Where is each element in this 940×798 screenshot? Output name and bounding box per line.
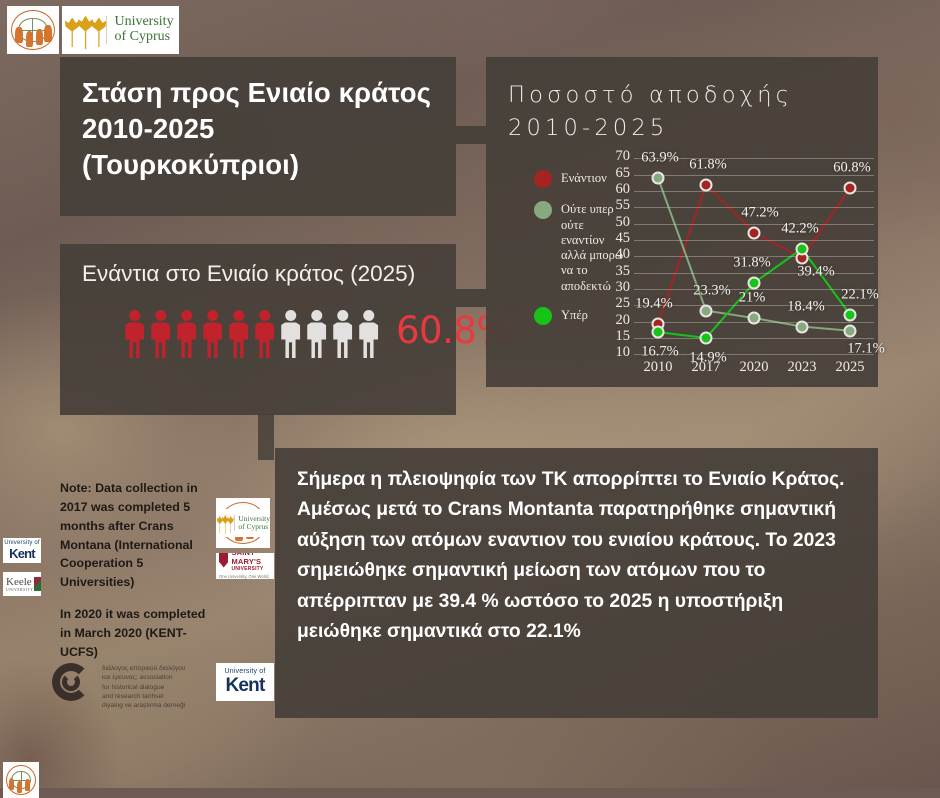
ahdr-figure xyxy=(25,779,30,791)
university-of-cyprus-logo-mid: University of Cyprus xyxy=(216,509,270,537)
y-axis-tick: 40 xyxy=(616,246,631,263)
page-title: Στάση προς Ενιαίο κράτος 2010-2025 (Τουρ… xyxy=(82,75,434,182)
note-line-1: Note: Data collection in 2017 was comple… xyxy=(60,479,212,592)
spiral-caption: διάλογος ιστορικού διαλόγουκαι έρευνας; … xyxy=(102,664,185,711)
gridline xyxy=(634,338,874,339)
ahdr-figure xyxy=(44,25,51,41)
ucy-wordmark: University of Cyprus xyxy=(107,15,179,45)
pictogram-person xyxy=(174,310,199,358)
data-label: 60.8% xyxy=(833,160,870,177)
person-body xyxy=(333,322,353,358)
person-head xyxy=(155,310,167,322)
chart-legend: ΕνάντιονΟύτε υπερ ούτε εναντίον αλλά μπο… xyxy=(534,170,628,338)
ucy-tree-mark xyxy=(62,6,106,54)
person-body xyxy=(203,322,223,358)
y-axis-tick: 50 xyxy=(616,214,631,231)
data-point[interactable] xyxy=(796,320,809,333)
data-label: 14.9% xyxy=(689,350,726,367)
spiral-caption-line: for historical dialogue xyxy=(102,683,185,692)
spiral-caption-line: diyalog ve araştırma derneği xyxy=(102,701,185,710)
data-point[interactable] xyxy=(844,182,857,195)
data-label: 16.7% xyxy=(641,344,678,361)
data-label: 22.1% xyxy=(841,286,878,303)
data-label: 21% xyxy=(739,290,766,307)
person-body xyxy=(307,322,327,358)
keele-crest-icon xyxy=(34,577,41,592)
legend-swatch-icon xyxy=(534,307,552,325)
person-head xyxy=(337,310,349,322)
legend-item-1[interactable]: Ούτε υπερ ούτε εναντίον αλλά μπορώ να το… xyxy=(534,201,628,294)
notes-block: Note: Data collection in 2017 was comple… xyxy=(60,479,212,662)
person-body xyxy=(125,322,145,358)
data-point[interactable] xyxy=(700,179,713,192)
y-axis-tick: 15 xyxy=(616,328,631,345)
data-point[interactable] xyxy=(844,308,857,321)
keele-university-logo: Keele UNIVERSITY xyxy=(3,572,41,596)
gridline xyxy=(634,191,874,192)
pictogram-person xyxy=(226,310,251,358)
ucy-line-1: University xyxy=(114,15,179,30)
spiral-caption-line: and research tarihsel xyxy=(102,692,185,701)
y-axis-tick: 45 xyxy=(616,230,631,247)
title-to-chart-connector xyxy=(456,126,486,144)
ahdr-figure xyxy=(15,27,22,43)
spiral-caption-line: και έρευνας; association xyxy=(102,673,185,682)
commentary-panel: Σήμερα η πλειοψηφία των ΤΚ απορρίπτει το… xyxy=(275,448,878,718)
person-head xyxy=(259,310,271,322)
person-body xyxy=(151,322,171,358)
data-point[interactable] xyxy=(844,325,857,338)
y-axis-tick: 70 xyxy=(616,148,631,165)
legend-item-0[interactable]: Ενάντιον xyxy=(534,170,628,188)
chart-area: ΕνάντιονΟύτε υπερ ούτε εναντίον αλλά μπο… xyxy=(510,152,880,374)
person-body xyxy=(255,322,275,358)
smu-row: SAINT MARY'S UNIVERSITY xyxy=(219,553,271,572)
y-axis-tick: 30 xyxy=(616,279,631,296)
pictogram-figures: 60.8% xyxy=(82,310,434,358)
person-head xyxy=(233,310,245,322)
pictogram-person xyxy=(356,310,381,358)
kent-wordmark: Kent xyxy=(9,546,35,561)
data-label: 63.9% xyxy=(641,150,678,167)
slide-title-panel: Στάση προς Ενιαίο κράτος 2010-2025 (Τουρ… xyxy=(60,57,456,216)
legend-item-2[interactable]: Υπέρ xyxy=(534,307,628,325)
ahdr-spiral-wordmark: διάλογος ιστορικού διαλόγουκαι έρευνας; … xyxy=(50,660,210,704)
person-head xyxy=(363,310,375,322)
data-label: 19.4% xyxy=(635,295,672,312)
data-label: 18.4% xyxy=(787,298,824,315)
x-axis-tick: 2025 xyxy=(836,359,865,376)
data-point[interactable] xyxy=(652,326,665,339)
person-head xyxy=(311,310,323,322)
pictogram-person xyxy=(148,310,173,358)
data-point[interactable] xyxy=(700,304,713,317)
y-axis-tick: 35 xyxy=(616,263,631,280)
y-axis-tick: 10 xyxy=(616,344,631,361)
pictogram-panel: Ενάντια στο Ενιαίο κράτος (2025) 60.8% xyxy=(60,244,456,415)
university-of-cyprus-logo-top: University of Cyprus xyxy=(62,6,179,54)
spiral-caption-line: διάλογος ιστορικού διαλόγου xyxy=(102,664,185,673)
pictogram-person xyxy=(304,310,329,358)
ahdr-figure xyxy=(36,29,43,45)
gridline xyxy=(634,273,874,274)
y-axis-tick: 65 xyxy=(616,165,631,182)
y-axis-tick: 20 xyxy=(616,312,631,329)
x-axis-tick: 2023 xyxy=(788,359,817,376)
smu-shield-icon xyxy=(219,553,228,568)
ucy-line-2: of Cyprus xyxy=(114,30,179,45)
person-body xyxy=(359,322,379,358)
kent-wordmark: Kent xyxy=(225,675,264,697)
pictogram-to-text-connector xyxy=(258,414,274,460)
person-body xyxy=(281,322,301,358)
data-label: 17.1% xyxy=(847,341,884,358)
legend-swatch-icon xyxy=(534,170,552,188)
data-label: 47.2% xyxy=(741,204,778,221)
ucy-wordmark: University of Cyprus xyxy=(235,515,270,531)
ucy-line-2: of Cyprus xyxy=(238,523,270,531)
data-label: 31.8% xyxy=(733,255,770,272)
smu-wordmark: SAINT MARY'S UNIVERSITY xyxy=(228,553,271,572)
data-label: 42.2% xyxy=(781,221,818,238)
person-body xyxy=(177,322,197,358)
data-point[interactable] xyxy=(748,226,761,239)
person-head xyxy=(129,310,141,322)
legend-swatch-icon xyxy=(534,201,552,219)
ahdr-figure xyxy=(17,781,22,793)
pictogram-person xyxy=(252,310,277,358)
university-of-kent-logo-left: University of Kent xyxy=(3,538,41,563)
data-label: 61.8% xyxy=(689,157,726,174)
ahdr-figure xyxy=(26,31,33,47)
ahdr-figure xyxy=(9,778,14,790)
saint-marys-university-logo: SAINT MARY'S UNIVERSITY One University, … xyxy=(216,553,274,579)
pictogram-person xyxy=(278,310,303,358)
person-head xyxy=(285,310,297,322)
ahdr-globe-logo-bottom xyxy=(3,762,39,798)
person-body xyxy=(229,322,249,358)
gridline xyxy=(634,240,874,241)
university-of-kent-logo-bottom: University of Kent xyxy=(216,663,274,701)
chart-plot: 1015202530354045505560657020102017202020… xyxy=(634,158,874,354)
x-axis-tick: 2020 xyxy=(740,359,769,376)
pictogram-to-chart-connector xyxy=(456,289,486,307)
data-label: 39.4% xyxy=(797,264,834,281)
y-axis-tick: 60 xyxy=(616,181,631,198)
data-point[interactable] xyxy=(700,332,713,345)
gridline xyxy=(634,224,874,225)
legend-label: Υπέρ xyxy=(561,307,588,323)
legend-label: Ενάντιον xyxy=(561,170,607,186)
chart-panel: Ποσοστό αποδοχής 2010-2025 ΕνάντιονΟύτε … xyxy=(486,57,878,387)
chart-title: Ποσοστό αποδοχής 2010-2025 xyxy=(508,79,878,144)
x-axis-tick: 2010 xyxy=(644,359,673,376)
kent-small-text: University of xyxy=(224,668,265,675)
data-label: 23.3% xyxy=(693,282,730,299)
ucy-tree-mark xyxy=(216,509,234,537)
pictogram-person xyxy=(200,310,225,358)
keele-wordmark: Keele UNIVERSITY xyxy=(3,576,34,592)
data-point[interactable] xyxy=(652,172,665,185)
ahdr-globe-logo-top xyxy=(7,6,59,54)
spiral-icon-inner xyxy=(62,673,80,691)
commentary-text: Σήμερα η πλειοψηφία των ΤΚ απορρίπτει το… xyxy=(297,465,856,648)
y-axis-tick: 55 xyxy=(616,197,631,214)
pictogram-heading: Ενάντια στο Ενιαίο κράτος (2025) xyxy=(82,258,434,290)
note-line-2: In 2020 it was completed in March 2020 (… xyxy=(60,605,212,662)
smu-tagline: One University, One World, Yours xyxy=(219,574,271,579)
y-axis-tick: 25 xyxy=(616,295,631,312)
ahdr-globe xyxy=(18,18,47,43)
data-point[interactable] xyxy=(796,243,809,256)
data-point[interactable] xyxy=(748,312,761,325)
data-point[interactable] xyxy=(748,277,761,290)
pictogram-person xyxy=(122,310,147,358)
pictogram-person xyxy=(330,310,355,358)
person-head xyxy=(181,310,193,322)
person-head xyxy=(207,310,219,322)
